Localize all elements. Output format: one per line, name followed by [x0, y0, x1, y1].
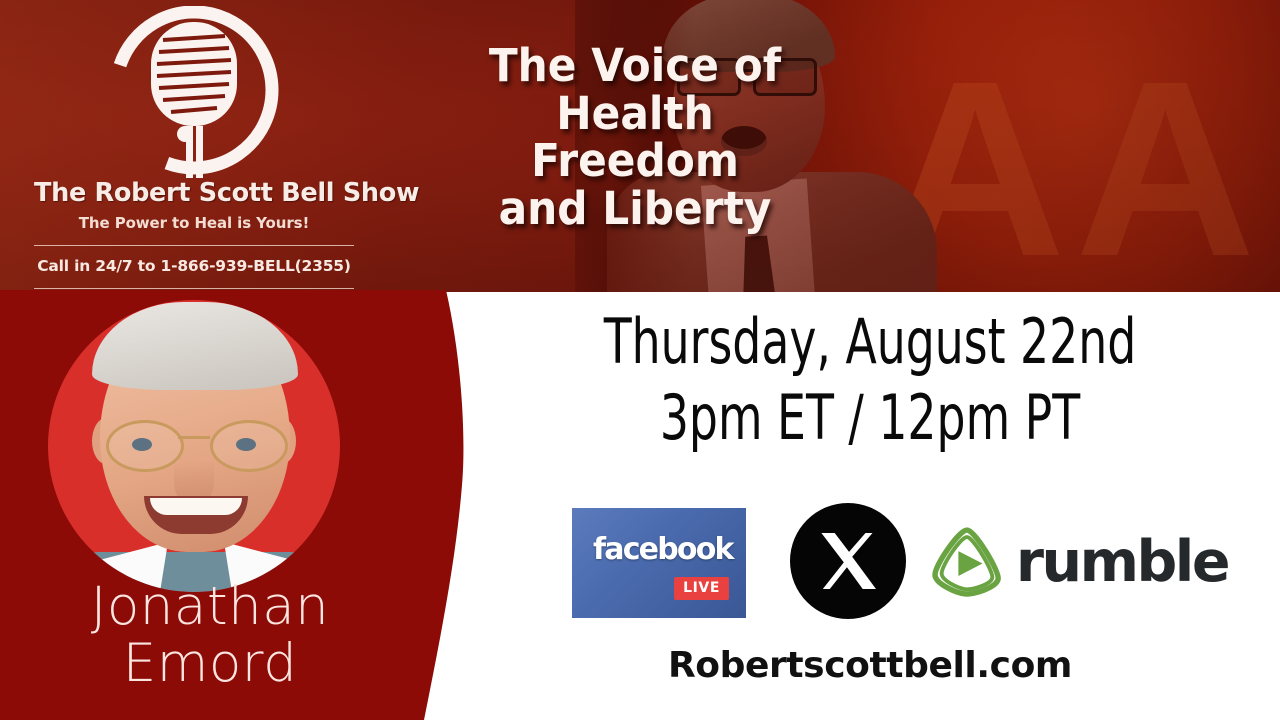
guest-last-name: Emord	[0, 635, 420, 692]
schedule-time: 3pm ET / 12pm PT	[534, 380, 1206, 456]
facebook-live-icon[interactable]: facebook LIVE	[572, 508, 746, 618]
platform-logos: facebook LIVE rumble	[560, 500, 1240, 625]
guest-headshot	[48, 300, 340, 592]
headline-line-3: and Liberty	[456, 185, 813, 233]
divider-bottom	[34, 288, 354, 289]
banner-headline: The Voice of Health Freedom and Liberty	[456, 42, 813, 233]
rumble-wordmark: rumble	[1016, 534, 1228, 591]
headline-line-2: Health Freedom	[456, 90, 813, 185]
rumble-logo-icon[interactable]: rumble	[928, 522, 1228, 602]
top-banner: A A The Voice of Health F	[0, 0, 1280, 296]
facebook-live-badge: LIVE	[674, 577, 729, 600]
facebook-wordmark: facebook	[593, 532, 733, 567]
schedule-block: Thursday, August 22nd 3pm ET / 12pm PT	[534, 304, 1206, 455]
guest-name: Jonathan Emord	[0, 578, 420, 692]
guest-teeth	[150, 498, 242, 515]
x-logo-icon[interactable]	[790, 503, 906, 619]
call-in-number: Call in 24/7 to 1-866-939-BELL(2355)	[34, 257, 354, 275]
guest-glasses-icon	[106, 420, 284, 468]
guest-first-name: Jonathan	[0, 578, 420, 635]
show-logo-block: The Robert Scott Bell Show The Power to …	[34, 6, 354, 296]
promo-poster: A A The Voice of Health F	[0, 0, 1280, 720]
show-title: The Robert Scott Bell Show	[34, 178, 354, 208]
vintage-microphone-icon	[34, 6, 354, 178]
headline-line-1: The Voice of	[456, 42, 813, 90]
divider-top	[34, 245, 354, 246]
website-url[interactable]: Robertscottbell.com	[460, 645, 1280, 686]
schedule-date: Thursday, August 22nd	[534, 304, 1206, 380]
show-tagline: The Power to Heal is Yours!	[34, 214, 354, 232]
